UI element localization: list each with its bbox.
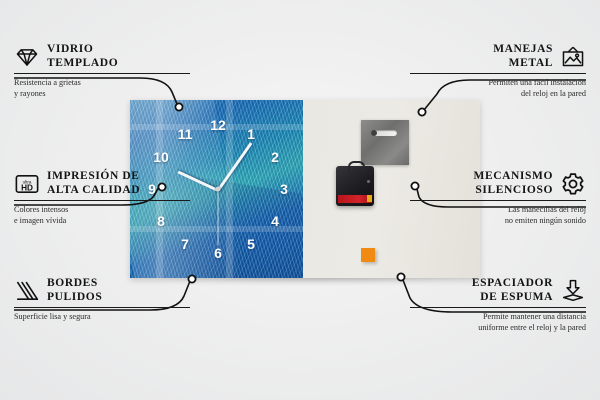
feature-title: IMPRESIÓN DE ALTA CALIDAD [47,170,140,197]
feature-desc-line1: Resistencia a grietas [14,78,190,89]
picture-hanger-icon [560,44,586,70]
gear-icon [560,171,586,197]
feature-vidrio-templado: VIDRIO TEMPLADO Resistencia a grietas y … [14,43,190,100]
infographic-canvas: 12 1 2 3 4 5 6 7 8 9 10 11 [0,0,600,400]
feature-desc-line1: Permite mantener una distancia [410,312,586,323]
feature-desc-line1: Las manecillas del reloj [410,205,586,216]
feature-title-line1: BORDES [47,277,102,291]
connector-dot-vidrio [175,103,182,110]
connector-dot-espaciador [397,273,404,280]
feature-title-line2: ALTA CALIDAD [47,184,140,198]
feature-head: ESPACIADOR DE ESPUMA [410,277,586,304]
feature-head: BORDES PULIDOS [14,277,190,304]
ultra-hd-large-text: HD [21,183,33,192]
feature-manejas-metal: MANEJAS METAL Permiten una fácil instala… [410,43,586,100]
feature-title-line1: MECANISMO [473,170,553,184]
feature-divider [14,200,190,201]
feature-title: MECANISMO SILENCIOSO [473,170,553,197]
feature-title: MANEJAS METAL [493,43,553,70]
feature-divider [14,307,190,308]
feature-description: Resistencia a grietas y rayones [14,78,190,100]
feature-head: VIDRIO TEMPLADO [14,43,190,70]
feature-description: Permite mantener una distancia uniforme … [410,312,586,334]
feature-desc-line1: Colores intensos [14,205,190,216]
feature-description: Permiten una fácil instalación del reloj… [410,78,586,100]
feature-desc-line2: no emiten ningún sonido [410,216,586,227]
feature-title-line1: MANEJAS [493,43,553,57]
feature-mecanismo-silencioso: MECANISMO SILENCIOSO Las manecillas del … [410,170,586,227]
feature-title-line2: DE ESPUMA [472,291,553,305]
feature-desc-line1: Permiten una fácil instalación [410,78,586,89]
feature-divider [410,307,586,308]
feature-impresion-alta-calidad: ultra HD IMPRESIÓN DE ALTA CALIDAD Color… [14,170,190,227]
polished-edges-icon [14,278,40,304]
ultra-hd-badge-icon: ultra HD [14,171,40,197]
feature-title-line1: VIDRIO [47,43,118,57]
diamond-gem-icon [14,44,40,70]
feature-bordes-pulidos: BORDES PULIDOS Superficie lisa y segura [14,277,190,323]
feature-description: Superficie lisa y segura [14,312,190,323]
feature-desc-line2: uniforme entre el reloj y la pared [410,323,586,334]
feature-head: MANEJAS METAL [410,43,586,70]
feature-title-line2: TEMPLADO [47,57,118,71]
feature-title-line1: IMPRESIÓN DE [47,170,140,184]
connector-dot-manejas [418,108,425,115]
foam-spacer-arrow-icon [560,278,586,304]
feature-desc-line2: del reloj en la pared [410,89,586,100]
feature-desc-line2: y rayones [14,89,190,100]
feature-divider [410,200,586,201]
feature-title: BORDES PULIDOS [47,277,102,304]
feature-title-line2: PULIDOS [47,291,102,305]
feature-description: Colores intensos e imagen vívida [14,205,190,227]
feature-title: ESPACIADOR DE ESPUMA [472,277,553,304]
feature-head: MECANISMO SILENCIOSO [410,170,586,197]
feature-divider [410,73,586,74]
feature-desc-line1: Superficie lisa y segura [14,312,190,323]
feature-title-line2: METAL [493,57,553,71]
feature-title-line2: SILENCIOSO [473,184,553,198]
feature-divider [14,73,190,74]
feature-title-line1: ESPACIADOR [472,277,553,291]
feature-desc-line2: e imagen vívida [14,216,190,227]
feature-description: Las manecillas del reloj no emiten ningú… [410,205,586,227]
feature-title: VIDRIO TEMPLADO [47,43,118,70]
feature-head: ultra HD IMPRESIÓN DE ALTA CALIDAD [14,170,190,197]
feature-espaciador-espuma: ESPACIADOR DE ESPUMA Permite mantener un… [410,277,586,334]
